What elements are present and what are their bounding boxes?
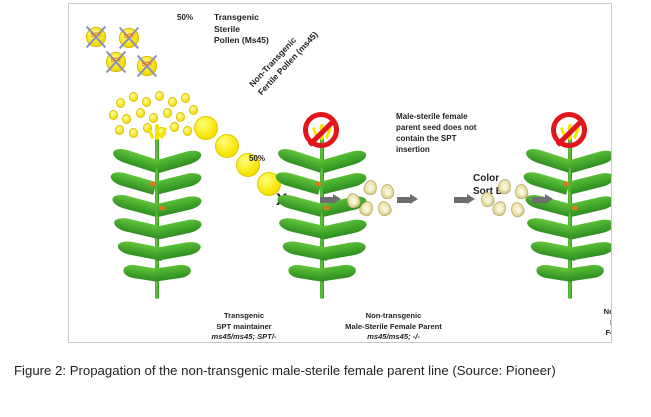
pollen-grain-icon [122, 114, 131, 124]
pollen-grain-spt-icon: SPT [86, 27, 106, 47]
plant-genotype: ms45/ms45; -/- [306, 332, 481, 342]
pollen-spt-label: SPT [138, 62, 156, 68]
pollen-spt-label: SPT [120, 34, 138, 40]
no-pollen-prohibition-icon [551, 112, 587, 148]
flow-arrow-icon [397, 194, 418, 205]
ear-icon [150, 182, 156, 186]
plant-name: Non-transgenic Male-Sterile Female Paren… [345, 311, 442, 330]
pollen-grain-icon [155, 91, 164, 101]
flow-arrow-icon [320, 194, 341, 205]
pollen-grain-icon [163, 108, 172, 118]
pollen-grain-spt-icon: SPT [106, 52, 126, 72]
figure-panel: SPT SPT SPT SPT 50% Transgenic Sterile P… [68, 3, 612, 343]
transgenic-sterile-pollen-label: Transgenic Sterile Pollen (Ms45) [214, 12, 269, 47]
pollen-grain-icon [109, 110, 118, 120]
flow-arrow-icon [532, 194, 553, 205]
corn-plant-male-sterile-female-parent-final [522, 124, 612, 299]
no-pollen-prohibition-icon [303, 112, 339, 148]
corn-plant-male-sterile-female-parent [274, 124, 369, 299]
pollen-grain-icon [116, 98, 125, 108]
ear-icon [324, 206, 330, 210]
ear-icon [563, 182, 569, 186]
seed-note-label: Male-sterile female parent seed does not… [396, 111, 476, 155]
fertile-pollen-icon [215, 134, 239, 158]
plant-name: Non-transgenic Male-Sterile Female Paren… [604, 307, 612, 337]
plant-genotype: ms45/ms45; SPT/- [169, 332, 319, 342]
pollen-grain-icon [181, 93, 190, 103]
pollen-spt-label: SPT [107, 58, 125, 64]
pollen-grain-icon [136, 108, 145, 118]
pollen-grain-icon [129, 92, 138, 102]
plant-name: Transgenic SPT maintainer [216, 311, 271, 330]
corn-kernel-icon [380, 183, 395, 200]
pollen-grain-spt-icon: SPT [119, 28, 139, 48]
ear-icon [572, 206, 578, 210]
pollen-grain-icon [149, 113, 158, 123]
plant-genotype: ms45/ms45; -/- [569, 339, 612, 343]
corn-kernel-icon [376, 199, 394, 218]
pollen-grain-spt-icon: SPT [137, 56, 157, 76]
flow-arrow-icon [454, 194, 475, 205]
pollen-grain-icon [168, 97, 177, 107]
plant-caption-male-sterile-female-parent-final: Non-transgenic Male-Sterile Female Paren… [569, 297, 612, 343]
pollen-grain-icon [142, 97, 151, 107]
percent-label-middle: 50% [249, 154, 265, 163]
figure-caption: Figure 2: Propagation of the non-transge… [14, 362, 639, 380]
pollen-spt-label: SPT [87, 33, 105, 39]
ear-icon [159, 206, 165, 210]
tassel-icon [148, 124, 166, 144]
corn-plant-transgenic-spt-maintainer [109, 124, 204, 299]
plant-caption-transgenic-spt-maintainer: Transgenic SPT maintainer ms45/ms45; SPT… [169, 301, 319, 343]
percent-label-top: 50% [177, 13, 193, 22]
pollen-grain-icon [189, 105, 198, 115]
ear-icon [315, 182, 321, 186]
pollen-grain-icon [176, 112, 185, 122]
plant-caption-male-sterile-female-parent: Non-transgenic Male-Sterile Female Paren… [306, 301, 481, 343]
